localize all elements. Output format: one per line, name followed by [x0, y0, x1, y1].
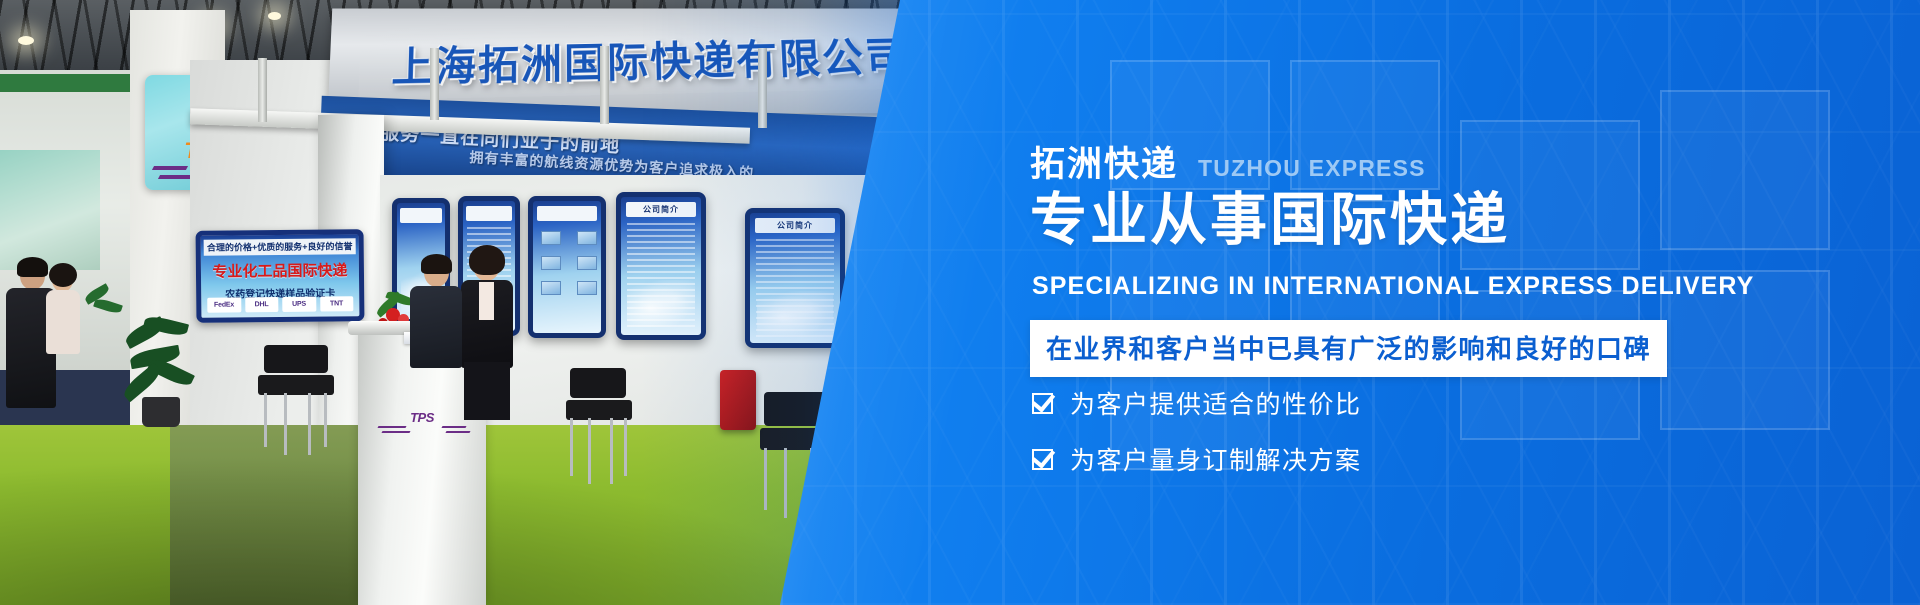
person-hair [421, 254, 452, 274]
booth-post [430, 48, 439, 120]
advert-top-line: 合理的价格+优质的服务+良好的信誉 [204, 238, 356, 256]
potted-plant [120, 315, 200, 425]
person-skirt [464, 362, 510, 420]
bullet-item: 为客户提供适合的性价比 [1032, 388, 1362, 418]
person-hair [49, 263, 77, 287]
visitor-woman [44, 268, 84, 388]
highlight-bar: 在业界和客户当中已具有广泛的影响和良好的口碑 [1030, 320, 1667, 377]
advert-headline: 专业化工品国际快递 [201, 260, 359, 284]
info-poster-map [757, 291, 833, 335]
booth-post [258, 58, 267, 122]
brand-name-en: TUZHOU EXPRESS [1198, 155, 1426, 182]
checkbox-checked-icon [1032, 449, 1053, 470]
tps-stripe [158, 175, 194, 179]
chair-leg [570, 418, 573, 476]
booth-post [600, 46, 609, 124]
counter-stripe [445, 431, 470, 433]
chair-leg [610, 418, 613, 484]
chair-seat [566, 400, 632, 420]
person-torso [410, 286, 462, 368]
carrier-logo-row: FedEx DHL UPS TNT [207, 296, 353, 313]
booth-info-poster: 公司简介 [616, 192, 706, 340]
counter-stripe [441, 426, 466, 428]
bullet-item: 为客户量身订制解决方案 [1032, 444, 1362, 474]
chair-leg [764, 448, 767, 510]
booth-post [758, 48, 767, 128]
neighbour-booth-header [0, 74, 150, 92]
plant-pot [142, 397, 180, 427]
poster-heading [400, 208, 442, 223]
carrier-logo: FedEx [207, 297, 241, 312]
poster-thumbnail [577, 231, 597, 245]
chair-leg [784, 448, 787, 518]
person-hair [469, 245, 505, 275]
bullet-list: 为客户提供适合的性价比 为客户量身订制解决方案 [1032, 388, 1362, 500]
booth-poster [528, 196, 606, 338]
info-poster-title: 公司简介 [755, 218, 834, 233]
counter-stripe [381, 431, 410, 433]
poster-thumbnail [541, 231, 561, 245]
brand-name-cn: 拓洲快递 [1030, 136, 1178, 187]
carrier-logo: UPS [282, 297, 316, 312]
bullet-label: 为客户提供适合的性价比 [1070, 385, 1362, 421]
neighbour-booth-graphic [0, 150, 100, 270]
potted-plant [84, 285, 120, 335]
chair-leg [308, 393, 311, 455]
poster-thumbnail [541, 281, 561, 295]
ceiling-light [268, 12, 281, 20]
booth-advert-board: 合理的价格+优质的服务+良好的信誉 专业化工品国际快递 农药登记快递样品验证卡 … [196, 229, 365, 323]
carrier-logo: TNT [320, 296, 354, 311]
counter-tps-logo: TPS [410, 410, 434, 425]
poster-heading [466, 206, 512, 221]
booth-staff-man [408, 258, 466, 408]
brand-row: 拓洲快递 TUZHOU EXPRESS [1030, 136, 1426, 187]
counter-stripe [377, 426, 406, 428]
booth-company-sign: 上海拓洲国际快递有限公司 [358, 17, 942, 101]
headline-cn: 专业从事国际快递 [1030, 192, 1510, 249]
plant-leaf [93, 297, 123, 315]
chair-leg [588, 418, 591, 484]
red-suitcase [720, 370, 756, 430]
hero-banner: TPS 上海拓洲国际快递有限公司 服务一直在同们业于的前地 拥有丰富的航线资源优… [0, 0, 1920, 605]
poster-thumbnail [577, 256, 597, 270]
chair-leg [624, 418, 627, 476]
headline-en: SPECIALIZING IN INTERNATIONAL EXPRESS DE… [1032, 272, 1754, 301]
booth-info-poster: 公司简介 [745, 208, 845, 348]
chair-seat [258, 375, 334, 395]
poster-thumbnail [541, 256, 561, 270]
chair-leg [264, 393, 267, 447]
chair-back [264, 345, 328, 373]
poster-heading [537, 206, 597, 221]
poster-thumbnail [577, 281, 597, 295]
info-poster-map [627, 280, 694, 327]
person-torso [46, 290, 80, 354]
chair-leg [284, 393, 287, 455]
checkbox-checked-icon [1032, 393, 1053, 414]
chair-back [570, 368, 626, 398]
carrier-logo: DHL [245, 297, 279, 312]
person-shirt [479, 282, 494, 320]
tps-stripe [152, 166, 188, 170]
chair-leg [324, 393, 327, 447]
banner-content: 拓洲快递 TUZHOU EXPRESS 专业从事国际快递 SPECIALIZIN… [1030, 0, 1910, 605]
info-poster-title: 公司简介 [626, 202, 696, 217]
ceiling-light [18, 36, 34, 45]
bullet-label: 为客户量身订制解决方案 [1070, 441, 1362, 477]
